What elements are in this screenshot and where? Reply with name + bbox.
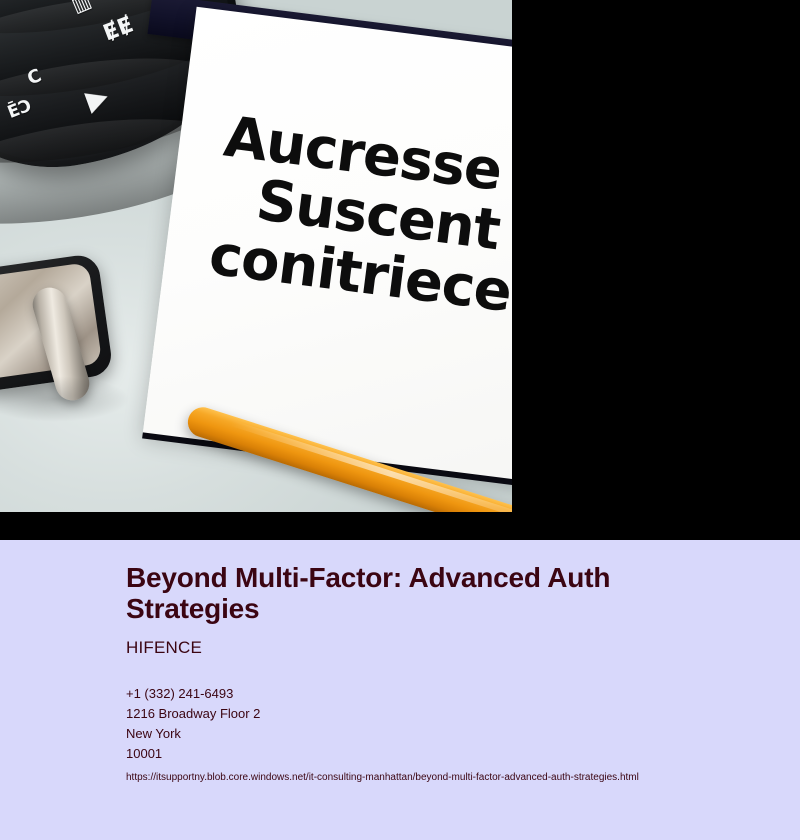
contact-city: New York [126, 724, 726, 744]
white-notepad: Aucresse Suscent conitriece [143, 7, 512, 488]
contact-postal-code: 10001 [126, 744, 726, 764]
notepad-text: Aucresse Suscent conitriece [206, 108, 512, 350]
contact-phone[interactable]: +1 (332) 241-6493 [126, 684, 726, 704]
article-hero-photo: ▥ Ɔ ɆɆ Ϲ ĒƆ Aucresse Suscent [0, 0, 512, 512]
page-title: Beyond Multi-Factor: Advanced Auth Strat… [126, 562, 726, 625]
page-root: ▥ Ɔ ɆɆ Ϲ ĒƆ Aucresse Suscent [0, 0, 800, 840]
contact-street: 1216 Broadway Floor 2 [126, 704, 726, 724]
contact-block: +1 (332) 241-6493 1216 Broadway Floor 2 … [126, 684, 726, 764]
article-info-panel: Beyond Multi-Factor: Advanced Auth Strat… [0, 540, 800, 840]
brand-name: HIFENCE [126, 638, 726, 658]
source-url-link[interactable]: https://itsupportny.blob.core.windows.ne… [126, 771, 726, 785]
hero-image-band: ▥ Ɔ ɆɆ Ϲ ĒƆ Aucresse Suscent [0, 0, 800, 540]
tray-shadow [0, 376, 130, 422]
info-content: Beyond Multi-Factor: Advanced Auth Strat… [126, 562, 726, 785]
